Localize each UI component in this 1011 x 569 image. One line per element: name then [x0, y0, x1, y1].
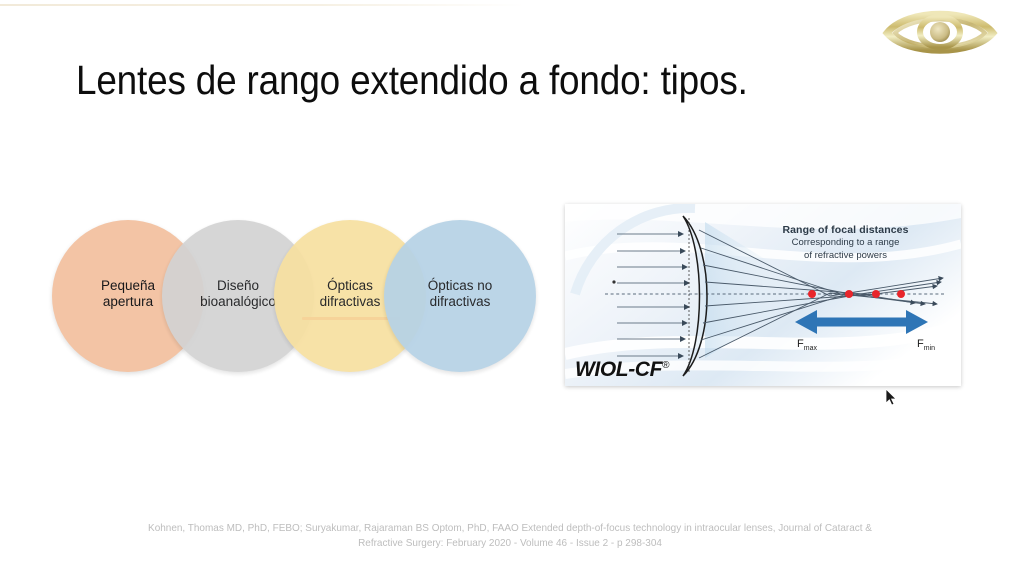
- concept-circles-group: Pequeña apertura Diseño bioanalógico Ópt…: [52, 220, 552, 375]
- circle-opticas-no-difractivas[interactable]: Ópticas no difractivas: [384, 220, 536, 372]
- eye-logo-icon: [881, 2, 999, 60]
- fmin-label: Fmin: [917, 338, 935, 352]
- citation-line-1: Kohnen, Thomas MD, PhD, FEBO; Suryakumar…: [111, 521, 909, 536]
- figure-heading-block: Range of focal distances Corresponding t…: [743, 224, 948, 262]
- optical-diagram-figure[interactable]: Range of focal distances Corresponding t…: [565, 204, 961, 386]
- figure-heading: Range of focal distances: [743, 224, 948, 236]
- mouse-pointer-cursor: [886, 389, 899, 407]
- citation-text: Kohnen, Thomas MD, PhD, FEBO; Suryakumar…: [111, 521, 909, 551]
- figure-subheading-line1: Corresponding to a range: [743, 237, 948, 249]
- top-divider-rule: [0, 4, 525, 6]
- circle-label: Diseño bioanalógico: [200, 278, 276, 315]
- circle-label: Ópticas no difractivas: [428, 278, 493, 315]
- slide-canvas: Lentes de rango extendido a fondo: tipos…: [0, 0, 1011, 569]
- wiol-cf-brand: WIOL-CF®: [575, 358, 669, 382]
- circle-label: Pequeña apertura: [101, 278, 155, 315]
- figure-subheading-line2: of refractive powers: [743, 250, 948, 262]
- page-title: Lentes de rango extendido a fondo: tipos…: [76, 57, 748, 104]
- citation-line-2: Refractive Surgery: February 2020 - Volu…: [111, 536, 909, 551]
- fmax-label: Fmax: [797, 338, 817, 352]
- circle-label: Ópticas difractivas: [320, 278, 381, 315]
